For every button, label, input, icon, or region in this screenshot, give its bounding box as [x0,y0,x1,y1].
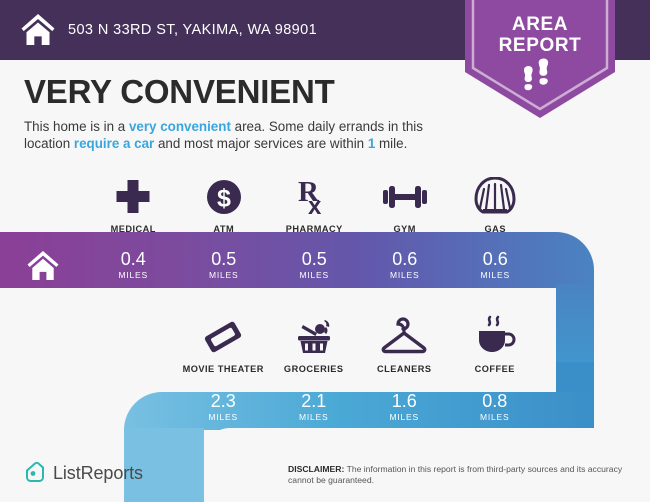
distance-values-row-2: 2.3 MILES 2.1 MILES 1.6 MILES 0.8 MILES [178,383,560,429]
clothes-hanger-icon [380,315,428,357]
distance-unit: MILES [390,270,420,280]
distance-unit: MILES [480,270,510,280]
distance-cell: 0.8 MILES [450,383,541,429]
distance-value: 2.1 [301,391,326,411]
distance-unit: MILES [299,270,329,280]
distance-cell: 0.4 MILES [88,241,179,287]
svg-text:x: x [308,193,322,217]
page-title: VERY CONVENIENT [24,73,335,111]
distance-value: 0.4 [121,249,146,269]
distance-value: 1.6 [392,391,417,411]
summary-highlight-2: require a car [74,136,154,151]
category-icons-row-2: MOVIE THEATER GROCERIES CLEANERS COFFEE [178,315,560,374]
distance-unit: MILES [118,270,148,280]
category-pharmacy: Rx PHARMACY [269,175,360,234]
distance-value: 2.3 [211,391,236,411]
medical-cross-icon [113,175,153,217]
category-cleaners: CLEANERS [359,315,450,374]
category-gym: GYM [360,175,451,234]
distance-unit: MILES [208,412,238,422]
badge-label: AREA REPORT [465,14,615,56]
distance-value: 0.6 [483,249,508,269]
distance-cell: 2.3 MILES [178,383,269,429]
property-address: 503 N 33RD ST, YAKIMA, WA 98901 [68,22,317,38]
distance-cell: 0.6 MILES [450,241,541,287]
category-movie-theater: MOVIE THEATER [178,315,269,374]
summary-part-1: This home is in a [24,119,129,134]
dumbbell-icon [382,175,428,217]
distance-unit: MILES [209,270,239,280]
distance-values-row-1: 0.4 MILES 0.5 MILES 0.5 MILES 0.6 MILES … [88,241,560,287]
category-label: COFFEE [475,364,515,374]
grocery-basket-icon [293,315,335,357]
movie-ticket-icon [202,315,244,357]
distance-cell: 1.6 MILES [359,383,450,429]
disclaimer: DISCLAIMER: The information in this repo… [288,464,636,486]
home-icon [20,13,56,47]
category-label: CLEANERS [377,364,432,374]
distance-cell: 0.5 MILES [179,241,270,287]
distance-unit: MILES [389,412,419,422]
distance-cell: 0.6 MILES [360,241,451,287]
category-coffee: COFFEE [450,315,541,374]
disclaimer-label: DISCLAIMER: [288,464,344,474]
distance-value: 0.5 [211,249,236,269]
summary-part-4: mile. [375,136,407,151]
distance-unit: MILES [299,412,329,422]
coffee-cup-icon [473,315,517,357]
svg-text:$: $ [217,185,231,213]
area-report-badge: AREA REPORT [465,0,615,118]
dollar-circle-icon: $ [204,175,244,217]
category-atm: $ ATM [179,175,270,234]
rx-prescription-icon: Rx [294,175,334,217]
badge-line-2: REPORT [465,35,615,56]
distance-value: 0.5 [302,249,327,269]
summary-highlight-1: very convenient [129,119,231,134]
category-gas: GAS [450,175,541,234]
distance-value: 0.6 [392,249,417,269]
home-icon [26,250,60,282]
distance-unit: MILES [480,412,510,422]
summary-part-3: and most major services are within [154,136,368,151]
gas-shell-icon [474,175,516,217]
summary-text: This home is in a very convenient area. … [24,118,469,152]
category-icons-row-1: MEDICAL $ ATM Rx PHARMACY GYM GAS [88,175,560,234]
category-groceries: GROCERIES [269,315,360,374]
badge-line-1: AREA [465,14,615,35]
category-medical: MEDICAL [88,175,179,234]
logo-text: ListReports [53,463,143,484]
distance-cell: 0.5 MILES [269,241,360,287]
distance-value: 0.8 [482,391,507,411]
distance-cell: 2.1 MILES [269,383,360,429]
listreports-house-pin-icon [24,461,46,485]
category-label: GROCERIES [284,364,344,374]
listreports-logo: ListReports [24,461,143,485]
category-label: MOVIE THEATER [183,364,264,374]
